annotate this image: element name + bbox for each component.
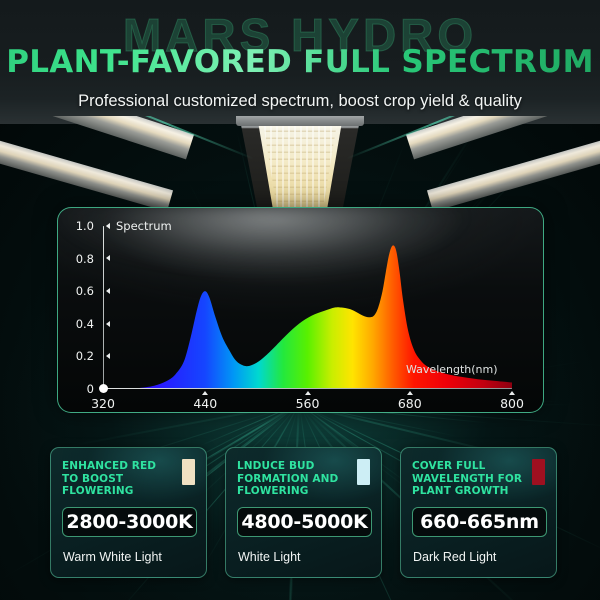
x-tick-mark (202, 391, 208, 395)
card-value-box: 2800-3000K (62, 507, 197, 537)
card-value: 660-665nm (420, 511, 539, 533)
y-tick-label: 0.2 (66, 349, 94, 363)
y-tick-mark (106, 255, 110, 261)
card-value: 2800-3000K (66, 511, 192, 533)
spec-card-warm-white[interactable]: ENHANCED RED TO BOOST FLOWERING 2800-300… (50, 447, 207, 578)
y-tick-label: 0 (66, 382, 94, 396)
color-swatch (532, 459, 545, 485)
card-footnote: White Light (238, 550, 301, 564)
card-headline: LNDUCE BUD FORMATION AND FLOWERING (237, 460, 349, 498)
x-tick-label: 680 (398, 396, 422, 411)
x-tick-label: 800 (500, 396, 524, 411)
y-tick-label: 1.0 (66, 219, 94, 233)
x-tick-label: 560 (296, 396, 320, 411)
spec-card-dark-red[interactable]: COVER FULL WAVELENGTH FOR PLANT GROWTH 6… (400, 447, 557, 578)
y-tick-label: 0.8 (66, 252, 94, 266)
card-footnote: Dark Red Light (413, 550, 496, 564)
y-tick-label: 0.6 (66, 284, 94, 298)
x-tick-label: 440 (193, 396, 217, 411)
y-tick-mark (106, 321, 110, 327)
x-tick-mark (407, 391, 413, 395)
page-subtitle: Professional customized spectrum, boost … (0, 92, 600, 111)
card-value: 4800-5000K (241, 511, 367, 533)
card-value-box: 660-665nm (412, 507, 547, 537)
color-swatch (182, 459, 195, 485)
y-tick-mark (106, 353, 110, 359)
page-title: PLANT-FAVORED FULL SPECTRUM (0, 44, 600, 80)
origin-dot (99, 384, 108, 393)
spectrum-chart-panel: 00.20.40.60.81.0 320440560680800 Spectru… (57, 207, 544, 413)
legend-label: Spectrum (116, 219, 172, 233)
card-headline: ENHANCED RED TO BOOST FLOWERING (62, 460, 174, 498)
spec-card-white[interactable]: LNDUCE BUD FORMATION AND FLOWERING 4800-… (225, 447, 382, 578)
x-tick-mark (305, 391, 311, 395)
card-headline: COVER FULL WAVELENGTH FOR PLANT GROWTH (412, 460, 524, 498)
spectrum-curve (58, 208, 544, 413)
led-mounting-bracket (236, 116, 364, 126)
color-swatch (357, 459, 370, 485)
legend-marker-icon (106, 223, 110, 229)
x-tick-label: 320 (91, 396, 115, 411)
y-tick-mark (106, 288, 110, 294)
y-tick-label: 0.4 (66, 317, 94, 331)
poster-canvas: MARS HYDRO PLANT-FAVORED FULL SPECTRUM P… (0, 0, 600, 600)
card-value-box: 4800-5000K (237, 507, 372, 537)
x-tick-mark (509, 391, 515, 395)
x-axis-label: Wavelength(nm) (406, 363, 498, 376)
card-footnote: Warm White Light (63, 550, 162, 564)
